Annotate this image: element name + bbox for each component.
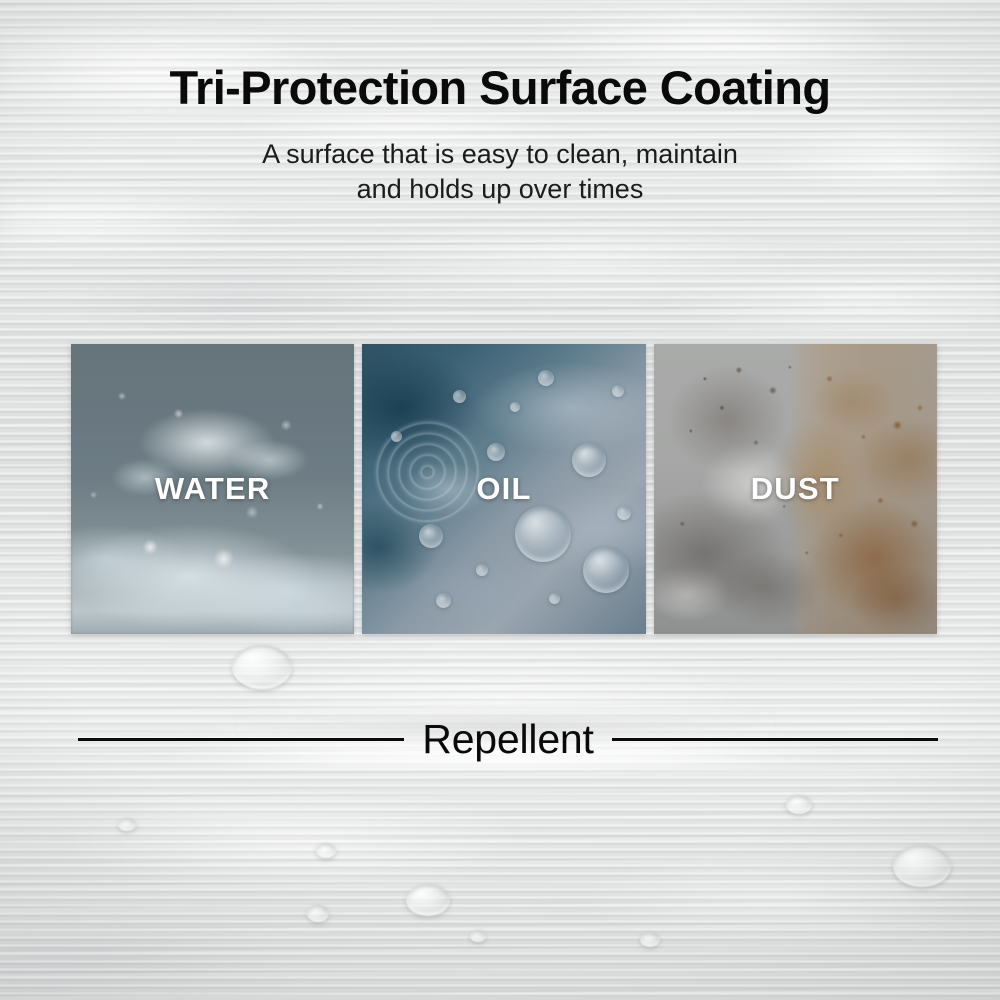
header-block: Tri-Protection Surface Coating A surface…	[0, 62, 1000, 207]
product-feature-poster: Tri-Protection Surface Coating A surface…	[0, 0, 1000, 1000]
feature-panel-label-oil: OIL	[362, 471, 645, 507]
page-subtitle: A surface that is easy to clean, maintai…	[140, 137, 860, 207]
feature-panel-label-dust: DUST	[654, 471, 937, 507]
feature-panel-water[interactable]: WATER	[71, 344, 354, 634]
divider-rule-right	[612, 738, 938, 741]
feature-panel-label-water: WATER	[71, 471, 354, 507]
repellent-divider: Repellent	[78, 716, 938, 763]
feature-panel-dust[interactable]: DUST	[654, 344, 937, 634]
repellent-label: Repellent	[422, 716, 593, 763]
feature-panel-oil[interactable]: OIL	[362, 344, 645, 634]
page-title: Tri-Protection Surface Coating	[0, 62, 1000, 115]
feature-panel-group: WATER OIL	[71, 344, 937, 634]
divider-rule-left	[78, 738, 404, 741]
page-subtitle-line-1: A surface that is easy to clean, maintai…	[262, 139, 738, 169]
page-subtitle-line-2: and holds up over times	[357, 174, 644, 204]
